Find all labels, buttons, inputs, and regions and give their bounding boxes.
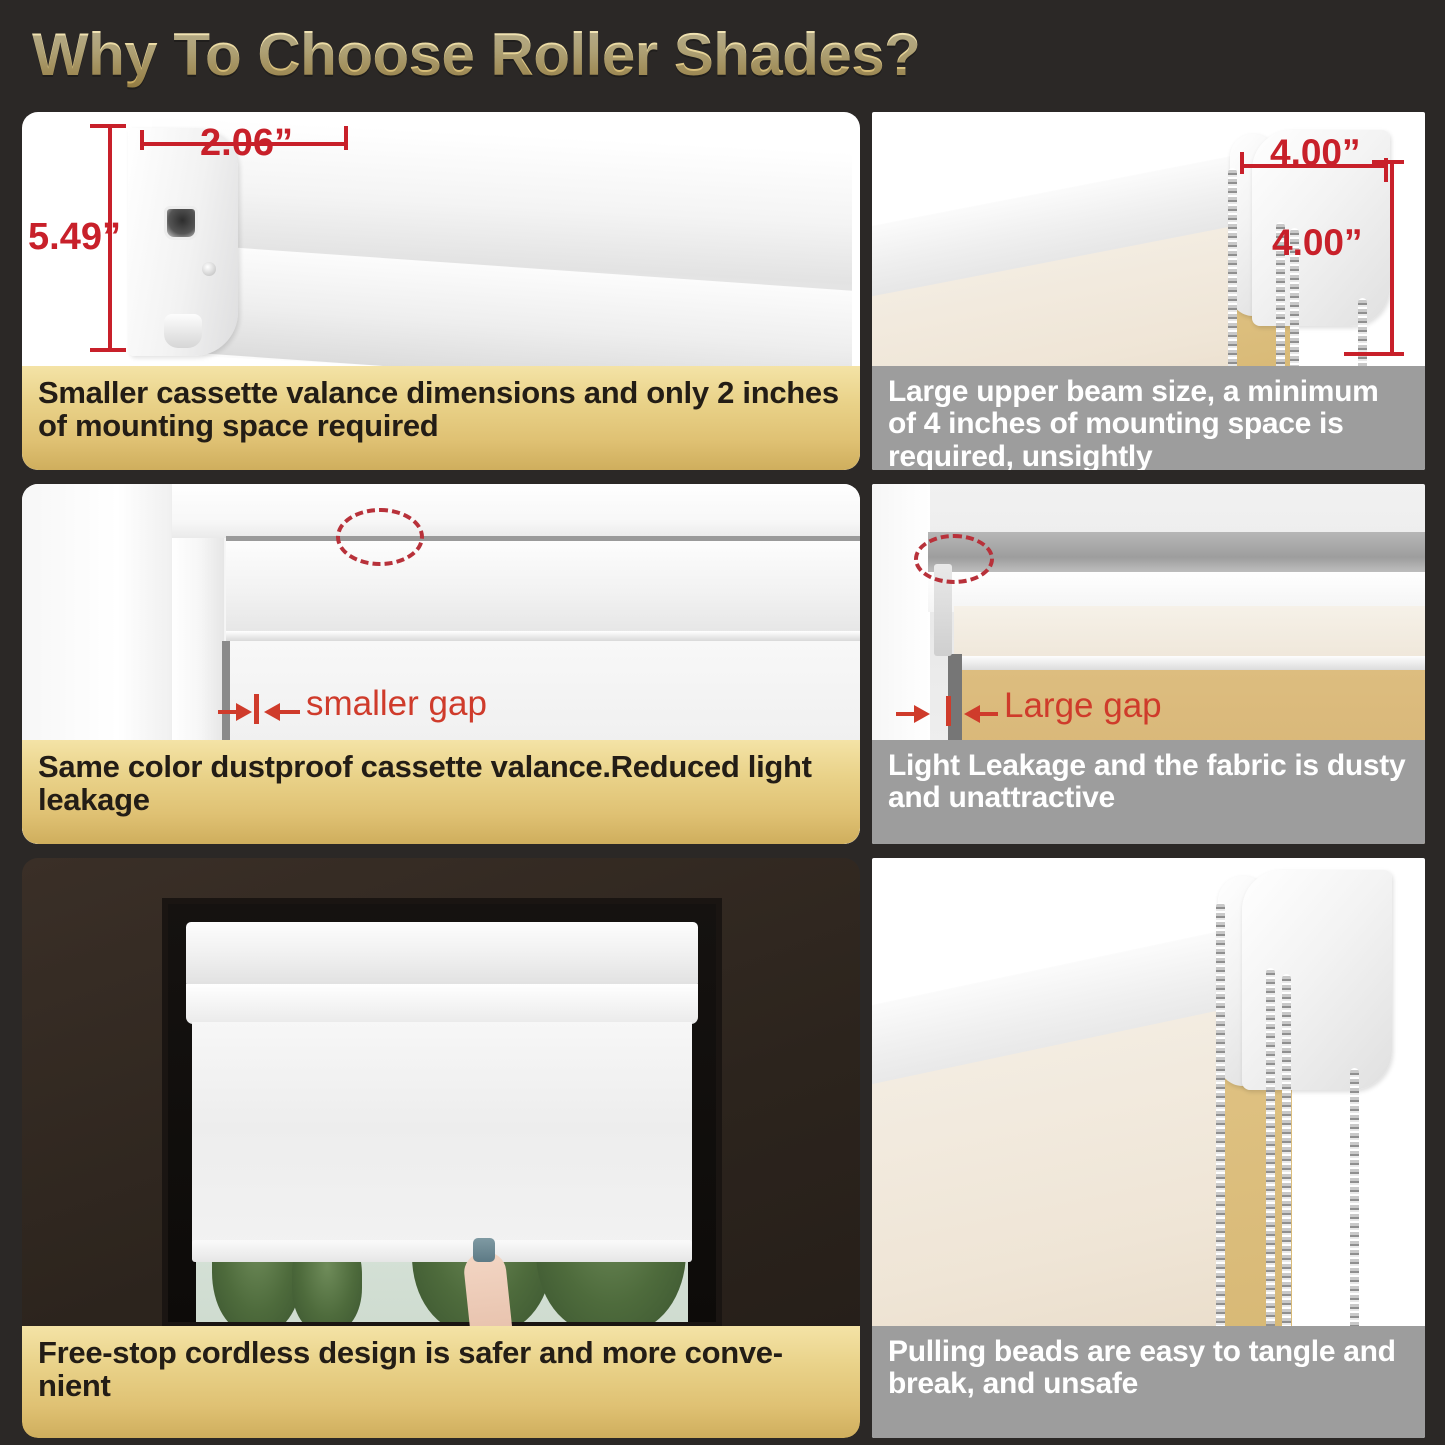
bottom-rail-grip: [473, 1238, 495, 1262]
valance-lip: [226, 631, 860, 641]
panel-dustproof-cassette-valance: smaller gap Same color dustproof cassett…: [22, 484, 860, 844]
gap-arrow-stem-left: [896, 712, 916, 716]
gap-bar: [254, 694, 259, 724]
panel-2-caption: Large upper beam size, a minimum of 4 in…: [872, 366, 1425, 470]
gap-arrow-stem-right: [280, 710, 300, 714]
cassette-head-rail: [186, 922, 698, 988]
dimension-label-549: 5.49”: [28, 216, 121, 259]
highlight-ellipse-icon: [336, 508, 424, 566]
dim-tick-v-top: [90, 124, 126, 128]
panel-pulling-beads-unsafe: Pulling beads are easy to tangle and bre…: [872, 858, 1425, 1438]
dimension-label-400-horizontal: 4.00”: [1270, 132, 1361, 174]
mounting-bracket: [1242, 870, 1392, 1090]
dim-tick-h-right: [344, 126, 348, 150]
shade-fabric: [192, 1022, 692, 1254]
panel-5-caption-text: Free-stop cordless design is safer and m…: [22, 1326, 860, 1403]
bead-chain-mid2: [1282, 974, 1291, 1378]
highlight-ellipse-icon: [914, 534, 994, 584]
window-frame: [162, 898, 722, 1328]
dim-tick-h-left: [140, 130, 144, 150]
cassette-valance-face: [226, 541, 860, 633]
shade-bottom-rail: [192, 1240, 692, 1262]
fabric-roll: [954, 606, 1425, 660]
gap-arrow-left-icon: [264, 703, 280, 721]
panel-3-caption: Same color dustproof cassette valance.Re…: [22, 740, 860, 844]
bead-chain-left: [1216, 902, 1225, 1378]
dim-tick-v-top: [1372, 160, 1404, 164]
roller-bottom-edge: [954, 656, 1425, 670]
page-title: Why To Choose Roller Shades?: [32, 20, 920, 89]
endcap-screw: [202, 262, 216, 276]
panel-3-caption-text: Same color dustproof cassette valance.Re…: [22, 740, 860, 817]
gap-label-large: Large gap: [1004, 686, 1162, 726]
endcap-slot: [164, 206, 198, 240]
endcap-knob: [164, 314, 202, 348]
gap-label-smaller: smaller gap: [306, 684, 487, 724]
panel-grid: 2.06” 5.49” Smaller cassette valance dim…: [0, 108, 1445, 1445]
dimension-label-206: 2.06”: [200, 122, 293, 165]
gap-arrow-stem-left: [218, 710, 238, 714]
header-bar: Why To Choose Roller Shades?: [0, 0, 1445, 108]
cassette-lower-rail: [186, 984, 698, 1024]
panel-5-caption: Free-stop cordless design is safer and m…: [22, 1326, 860, 1438]
panel-6-caption-text: Pulling beads are easy to tangle and bre…: [872, 1326, 1425, 1401]
gap-bar: [946, 696, 951, 726]
panel-4-caption: Light Leakage and the fabric is dusty an…: [872, 740, 1425, 844]
panel-4-caption-text: Light Leakage and the fabric is dusty an…: [872, 740, 1425, 815]
gap-arrow-stem-right: [980, 712, 998, 716]
window-frame-top: [172, 484, 860, 538]
panel-smaller-cassette-valance: 2.06” 5.49” Smaller cassette valance dim…: [22, 112, 860, 470]
panel-large-upper-beam: 4.00” 4.00” Large upper beam size, a min…: [872, 112, 1425, 470]
dim-tick-h-left: [1240, 152, 1244, 174]
panel-2-caption-text: Large upper beam size, a minimum of 4 in…: [872, 366, 1425, 470]
gap-arrow-right-icon: [236, 703, 252, 721]
panel-free-stop-cordless: Free-stop cordless design is safer and m…: [22, 858, 860, 1438]
gap-arrow-right-icon: [914, 705, 930, 723]
dim-tick-v-bottom: [90, 348, 126, 352]
dim-tick-v-bottom: [1344, 352, 1404, 356]
panel-1-caption: Smaller cassette valance dimensions and …: [22, 366, 860, 470]
panel-1-caption-text: Smaller cassette valance dimensions and …: [22, 366, 860, 443]
bead-chain-mid: [1266, 968, 1275, 1378]
infographic-root: Why To Choose Roller Shades? 2.06”: [0, 0, 1445, 1445]
dim-line-vertical: [1390, 160, 1394, 356]
upper-beam-shadow: [928, 532, 1425, 574]
gap-arrow-left-icon: [964, 705, 980, 723]
panel-light-leakage: Large gap Light Leakage and the fabric i…: [872, 484, 1425, 844]
panel-6-caption: Pulling beads are easy to tangle and bre…: [872, 1326, 1425, 1438]
dimension-label-400-vertical: 4.00”: [1272, 222, 1363, 264]
